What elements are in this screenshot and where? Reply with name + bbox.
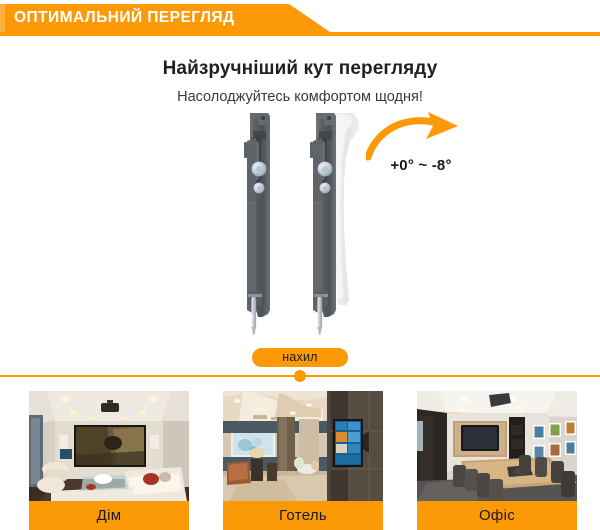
- scenario-card-home-caption: Дім: [29, 501, 189, 530]
- hero-text-block: Найзручніший кут перегляду Насолоджуйтес…: [0, 56, 600, 108]
- scenario-card-hotel-caption: Готель: [223, 501, 383, 530]
- page-title: Найзручніший кут перегляду: [0, 56, 600, 82]
- home-theatre-photo: [29, 391, 189, 501]
- bracket-ghost-tilted: [334, 113, 359, 305]
- scenario-card-office[interactable]: Офіс: [417, 391, 577, 530]
- scenario-card-home[interactable]: Дім: [29, 391, 189, 530]
- tilt-badge: нахил: [252, 348, 348, 367]
- page-header: ОПТИМАЛЬНИЙ ПЕРЕГЛЯД: [0, 0, 600, 40]
- scenario-card-office-caption: Офіс: [417, 501, 577, 530]
- section-divider-dot: [294, 370, 306, 382]
- tv-mount-bracket-illustration: [228, 105, 378, 337]
- scenario-card-hotel[interactable]: Готель: [223, 391, 383, 530]
- hotel-lobby-photo: [223, 391, 383, 501]
- tilt-angle-label: +0° ~ -8°: [366, 157, 476, 174]
- bracket-left: [244, 113, 270, 335]
- bracket-pin: [252, 297, 257, 329]
- header-accent-bar: [0, 4, 5, 32]
- bracket-pin: [318, 297, 323, 329]
- header-title: ОПТИМАЛЬНИЙ ПЕРЕГЛЯД: [14, 8, 235, 28]
- header-rule: [0, 32, 600, 36]
- illustration-area: +0° ~ -8°: [0, 105, 600, 340]
- usage-scenario-cards: Дім: [0, 391, 600, 530]
- office-meeting-room-photo: [417, 391, 577, 501]
- curved-arrow-icon: [366, 111, 476, 161]
- bracket-right: [310, 113, 336, 335]
